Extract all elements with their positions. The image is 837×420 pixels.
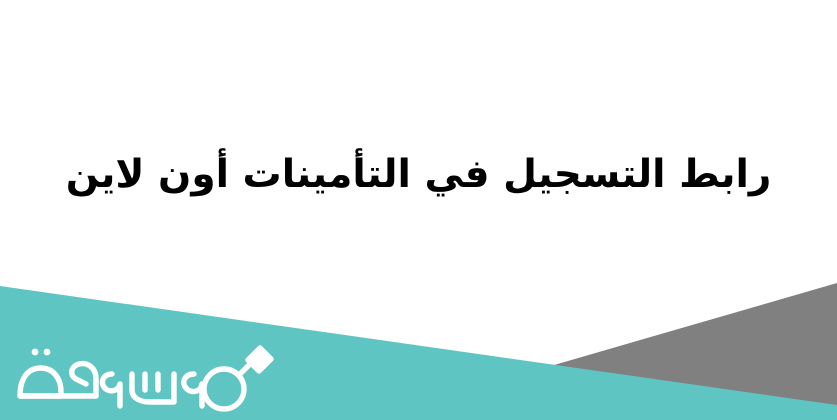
brand-logo-strokes (20, 348, 271, 409)
gray-wedge-shape (530, 283, 837, 420)
headline-container: رابط التسجيل في التأمينات أون لاين (0, 128, 837, 223)
brand-logo[interactable]: موسوعة (8, 334, 280, 416)
page-title: رابط التسجيل في التأمينات أون لاين (66, 147, 772, 204)
screenshot-canvas: رابط التسجيل في التأمينات أون لاين موسوع… (0, 0, 837, 420)
pen-nib-icon (248, 348, 271, 371)
